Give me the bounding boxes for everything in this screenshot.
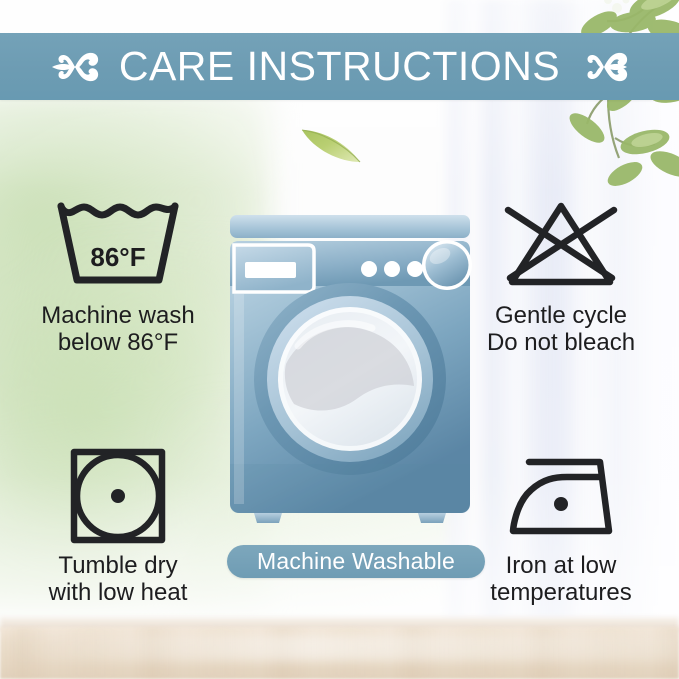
triangle-crossed-out-icon <box>491 196 631 296</box>
detergent-drawer-handle <box>245 262 296 278</box>
banner-title: CARE INSTRUCTIONS <box>119 46 560 87</box>
indicator-dot <box>407 261 423 277</box>
wash-temperature-label: 86°F <box>48 242 188 273</box>
indicator-dot <box>361 261 377 277</box>
tumble-dry-heat-dot <box>111 489 125 503</box>
care-symbol-machine-wash: 86°F Machine wash below 86°F <box>8 196 228 357</box>
iron-heat-dot <box>554 497 568 511</box>
indicator-dot <box>384 261 400 277</box>
machine-washable-badge: Machine Washable <box>227 545 485 578</box>
leaf-icon <box>296 120 366 168</box>
table-sheen <box>0 635 679 661</box>
wash-tub-symbol-wrap: 86°F <box>48 196 188 296</box>
fleur-de-lis-icon <box>49 46 101 88</box>
machine-washable-badge-label: Machine Washable <box>257 550 455 573</box>
tumble-dry-low-icon <box>48 446 188 546</box>
care-symbol-do-not-bleach: Gentle cycle Do not bleach <box>451 196 671 357</box>
care-caption-machine-wash: Machine wash below 86°F <box>41 302 194 357</box>
machine-body-shading <box>230 464 470 513</box>
care-caption-tumble-dry: Tumble dry with low heat <box>49 552 188 607</box>
care-symbol-tumble-dry-low: Tumble dry with low heat <box>8 446 228 607</box>
washing-machine-illustration <box>226 214 474 524</box>
machine-edge-sheen <box>234 294 244 504</box>
care-instructions-graphic: CARE INSTRUCTIONS <box>0 0 679 679</box>
machine-foot <box>254 513 282 523</box>
header-banner: CARE INSTRUCTIONS <box>0 33 679 100</box>
iron-one-dot-icon <box>491 446 631 546</box>
care-caption-do-not-bleach: Gentle cycle Do not bleach <box>487 302 635 357</box>
care-caption-iron: Iron at low temperatures <box>490 552 631 607</box>
machine-top-lid <box>230 215 470 238</box>
fleur-de-lis-icon <box>578 46 630 88</box>
care-symbol-iron-low: Iron at low temperatures <box>451 446 671 607</box>
machine-foot <box>418 513 446 523</box>
